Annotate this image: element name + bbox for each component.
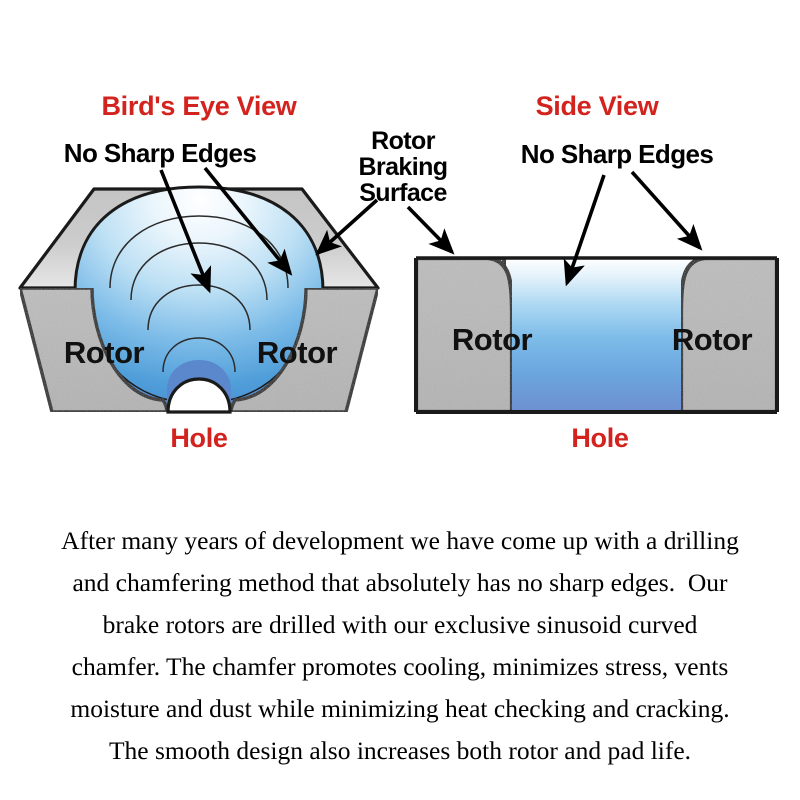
side-rotor-right-label: Rotor xyxy=(672,322,753,357)
illustration-page: Bird's Eye View No Sharp Edges Rotor Bra… xyxy=(0,0,800,800)
birds-eye-rotor-left-label: Rotor xyxy=(64,335,145,370)
birds-eye-view-group xyxy=(20,168,378,412)
birds-eye-title: Bird's Eye View xyxy=(101,91,297,121)
rotor-braking-surface-label-line1: Rotor xyxy=(371,127,436,155)
side-view-title: Side View xyxy=(536,91,660,121)
birds-eye-rotor-right-label: Rotor xyxy=(257,335,338,370)
rotor-braking-surface-label-line3: Surface xyxy=(359,179,447,207)
birds-eye-no-sharp-edges-label: No Sharp Edges xyxy=(64,138,257,168)
caption-line-4: chamfer. The chamfer promotes cooling, m… xyxy=(0,646,800,688)
caption-line-2: and chamfering method that absolutely ha… xyxy=(0,562,800,604)
description-paragraph: After many years of development we have … xyxy=(0,520,800,772)
caption-line-5: moisture and dust while minimizing heat … xyxy=(0,688,800,730)
rotor-braking-surface-label-line2: Braking xyxy=(359,153,448,181)
side-hole-fill xyxy=(506,258,690,412)
birds-eye-hole-label: Hole xyxy=(170,423,228,453)
side-view-hole-label: Hole xyxy=(571,423,629,453)
side-rotor-left-label: Rotor xyxy=(452,322,533,357)
side-view-group xyxy=(408,172,777,412)
caption-line-6: The smooth design also increases both ro… xyxy=(0,730,800,772)
arrow-side-no-sharp-edges-right xyxy=(632,172,700,248)
caption-line-1: After many years of development we have … xyxy=(0,520,800,562)
arrow-rotor-braking-surface-right xyxy=(408,207,452,252)
side-view-no-sharp-edges-label: No Sharp Edges xyxy=(521,139,714,169)
caption-line-3: brake rotors are drilled with our exclus… xyxy=(0,604,800,646)
